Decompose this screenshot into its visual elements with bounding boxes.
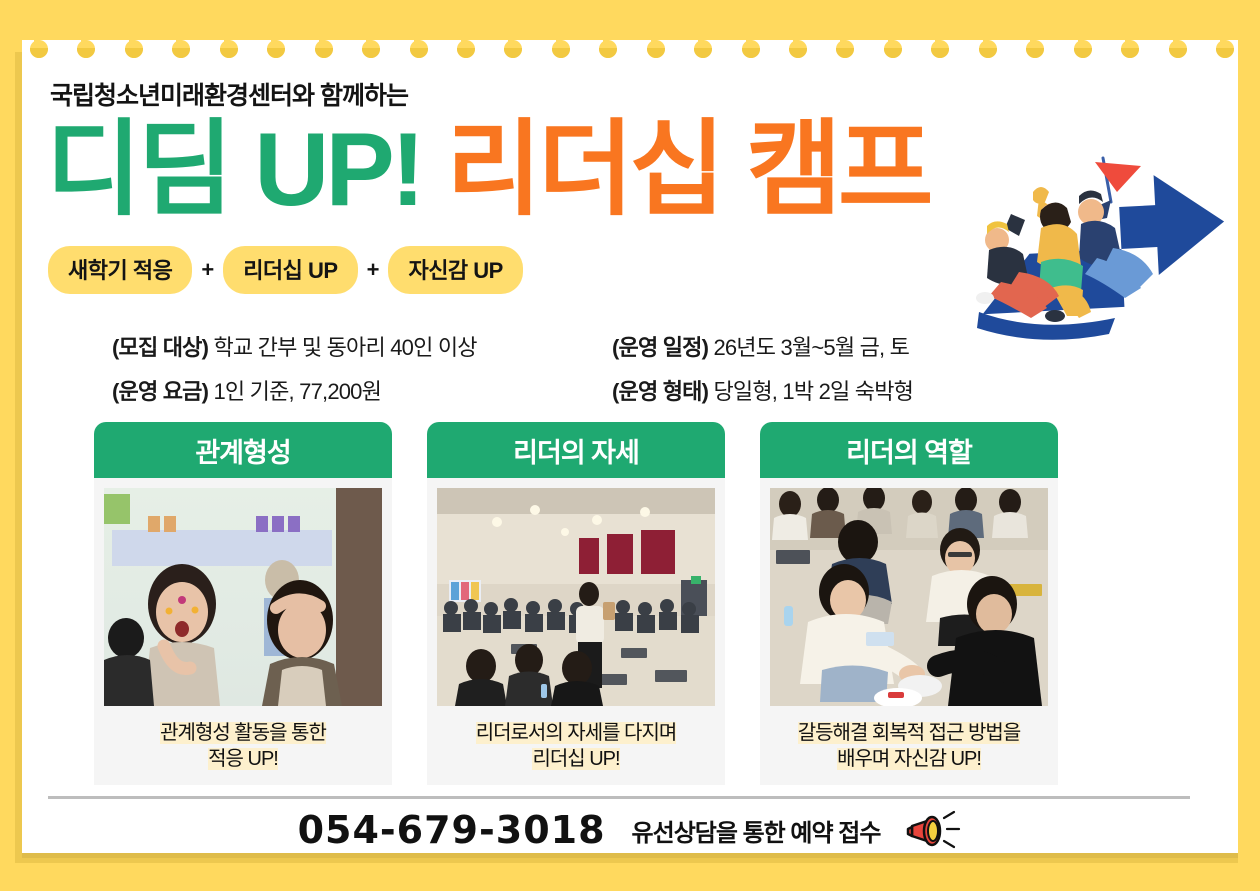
- poster-root: 국립청소년미래환경센터와 함께하는 디딤 UP! 리더십 캠프 새학기 적응 +…: [0, 0, 1260, 891]
- frame-shadow-left: [15, 52, 22, 863]
- card-2-caption-line1: 리더로서의 자세를 다지며: [476, 722, 677, 744]
- megaphone-icon: [906, 808, 962, 852]
- card-3-caption-line2: 배우며 자신감 UP!: [837, 748, 981, 770]
- frame-shadow-bottom: [15, 853, 1238, 863]
- footer-divider: [48, 796, 1190, 799]
- info-row-3: (운영 형태) 당일형, 1박 2일 숙박형: [612, 374, 913, 406]
- keyword-pill-3: 자신감 UP: [388, 246, 522, 294]
- card-1-body: 관계형성 활동을 통한 적응 UP!: [94, 478, 392, 785]
- card-3-photo: [770, 488, 1048, 706]
- people-riding-blue-arrow-illustration: [975, 140, 1237, 340]
- card-2-body: 리더로서의 자세를 다지며 리더십 UP!: [427, 478, 725, 785]
- keyword-pill-2: 리더십 UP: [223, 246, 357, 294]
- red-flag: [1095, 158, 1141, 202]
- card-1-photo: [104, 488, 382, 706]
- card-1-caption-line2: 적응 UP!: [208, 748, 278, 770]
- keyword-separator-1: +: [201, 257, 214, 283]
- card-3-caption-line1: 갈등해결 회복적 접근 방법을: [798, 722, 1020, 744]
- title-green-part: 디딤 UP!: [46, 112, 421, 228]
- card-3-caption: 갈등해결 회복적 접근 방법을 배우며 자신감 UP!: [770, 720, 1048, 773]
- card-1-caption: 관계형성 활동을 통한 적응 UP!: [104, 720, 382, 773]
- classroom-activity-photo-icon: [104, 488, 382, 706]
- card-3-header: 리더의 역할: [760, 422, 1058, 478]
- info-row-1: (운영 일정) 26년도 3월~5월 금, 토: [612, 330, 913, 362]
- keyword-pill-1: 새학기 적응: [48, 246, 192, 294]
- small-group-discussion-photo-icon: [770, 488, 1048, 706]
- keyword-separator-2: +: [367, 257, 380, 283]
- info-row-0: (모집 대상) 학교 간부 및 동아리 40인 이상: [112, 330, 612, 362]
- program-card-2: 리더의 자세: [427, 422, 725, 785]
- info-label-3: (운영 형태): [612, 379, 708, 404]
- program-card-1: 관계형성: [94, 422, 392, 785]
- keyword-pill-row: 새학기 적응 + 리더십 UP + 자신감 UP: [48, 246, 523, 294]
- card-2-caption: 리더로서의 자세를 다지며 리더십 UP!: [437, 720, 715, 773]
- program-card-row: 관계형성: [94, 422, 1058, 785]
- title-orange-part: 리더십 캠프: [446, 112, 929, 228]
- info-value-1: 26년도 3월~5월 금, 토: [713, 335, 909, 360]
- poster-title: 디딤 UP! 리더십 캠프: [46, 118, 930, 222]
- info-label-0: (모집 대상): [112, 335, 208, 360]
- program-card-3: 리더의 역할: [760, 422, 1058, 785]
- card-3-body: 갈등해결 회복적 접근 방법을 배우며 자신감 UP!: [760, 478, 1058, 785]
- info-label-2: (운영 요금): [112, 379, 208, 404]
- info-value-2: 1인 기준, 77,200원: [213, 379, 381, 404]
- card-1-header: 관계형성: [94, 422, 392, 478]
- info-value-3: 당일형, 1박 2일 숙박형: [713, 379, 913, 404]
- info-value-0: 학교 간부 및 동아리 40인 이상: [213, 335, 476, 360]
- gymnasium-assembly-photo-icon: [437, 488, 715, 706]
- card-2-header: 리더의 자세: [427, 422, 725, 478]
- card-1-caption-line1: 관계형성 활동을 통한: [160, 722, 326, 744]
- footer-note: 유선상담을 통한 예약 접수: [632, 813, 881, 848]
- footer-bar: 054-679-3018 유선상담을 통한 예약 접수: [0, 808, 1260, 852]
- info-label-1: (운영 일정): [612, 335, 708, 360]
- poster-subtitle: 국립청소년미래환경센터와 함께하는: [50, 76, 408, 112]
- card-2-caption-line2: 리더십 UP!: [532, 748, 619, 770]
- contact-phone-number[interactable]: 054-679-3018: [298, 808, 606, 852]
- card-2-photo: [437, 488, 715, 706]
- info-grid: (모집 대상) 학교 간부 및 동아리 40인 이상 (운영 일정) 26년도 …: [112, 330, 913, 406]
- info-row-2: (운영 요금) 1인 기준, 77,200원: [112, 374, 612, 406]
